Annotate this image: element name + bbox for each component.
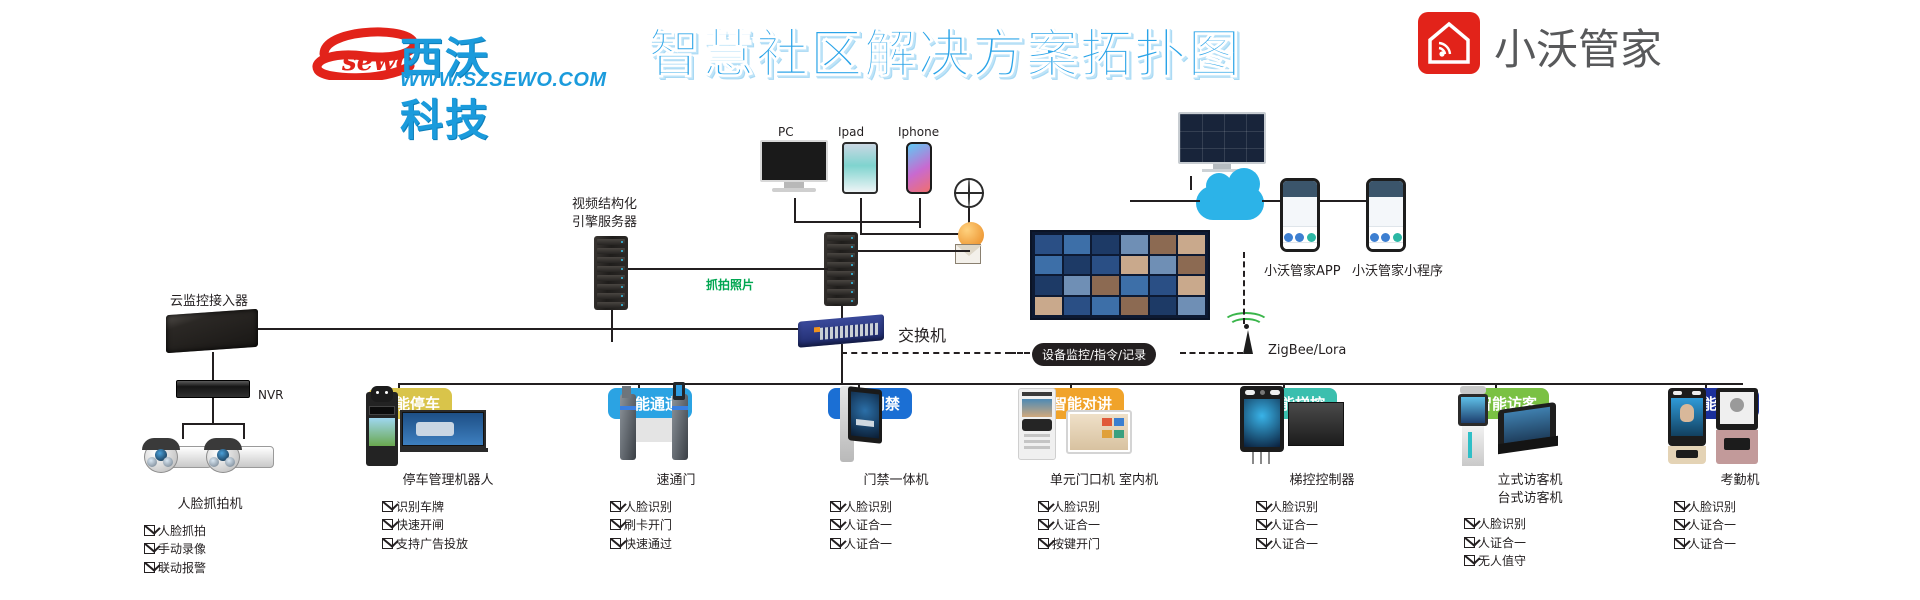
video-engine-server-label-line2: 引擎服务器 [572, 211, 637, 230]
link-cam1 [182, 423, 184, 439]
switch-label: 交换机 [898, 322, 946, 346]
cloud-icon [1196, 186, 1264, 220]
dash-left-seg [1010, 352, 1030, 354]
company-logo: sewo 西沃科技 WWW.SZSEWO.COM [288, 14, 528, 84]
column-smart-intercom: 单元门口机 室内机 人脸识别 人证合一 按键开门 [1004, 380, 1204, 553]
feature-item: 人证合一 [1674, 516, 1840, 535]
column-smart-access: 门禁一体机 人脸识别 人证合一 人证合一 [796, 380, 996, 553]
feature-item: 人脸识别 [830, 498, 996, 517]
feature-item: 人脸识别 [610, 498, 776, 517]
camera-feature-list: 人脸抓拍 手动录像 联动报警 [110, 522, 310, 578]
house-wifi-icon [1418, 12, 1480, 74]
capture-photo-label: 抓拍照片 [706, 276, 754, 293]
rack-server-icon [166, 309, 258, 353]
feature-item: 快速通过 [610, 535, 776, 554]
link-cloudaccess-switch [258, 328, 824, 330]
column-smart-elevator: 梯控控制器 人脸识别 人证合一 人证合一 [1222, 380, 1422, 553]
feature-item: 人证合一 [1256, 535, 1422, 554]
feature-item: 人证合一 [1674, 535, 1840, 554]
dash-antenna-up [1243, 252, 1245, 324]
check-icon [382, 519, 393, 530]
device-name-smart-parking: 停车管理机器人 [348, 472, 548, 490]
topology-diagram-page: sewo 西沃科技 WWW.SZSEWO.COM 智慧社区解决方案拓扑图 小沃管… [0, 0, 1920, 600]
link-switch-down [841, 344, 843, 384]
link-workstation-cloud [1190, 176, 1192, 190]
video-wall-icon [1030, 230, 1210, 320]
feature-item: 手动录像 [144, 540, 310, 559]
link-wall-cloud [1130, 200, 1200, 202]
link-ipad-down [860, 198, 862, 234]
access-terminal-icon [796, 380, 996, 466]
feature-item: 人证合一 [1464, 534, 1630, 553]
check-icon [1256, 519, 1267, 530]
check-icon [144, 543, 155, 554]
column-smart-passage: 速通门 人脸识别 刷卡开门 快速通过 [576, 380, 776, 553]
feature-item: 人证合一 [1038, 516, 1204, 535]
check-icon [1256, 501, 1267, 512]
check-icon [1464, 537, 1475, 548]
device-name-smart-visitor-line2: 台式访客机 [1430, 490, 1630, 508]
check-icon [1038, 501, 1049, 512]
phone-app-icon-1 [1280, 178, 1320, 252]
camera-device-name: 人脸抓拍机 [110, 496, 310, 514]
camera-branch-column: 人脸抓拍机 人脸抓拍 手动录像 联动报警 [110, 490, 310, 577]
network-switch-icon [798, 314, 884, 348]
bullet-camera-icon [142, 438, 212, 478]
check-icon [1038, 538, 1049, 549]
feature-list-smart-elevator: 人脸识别 人证合一 人证合一 [1222, 498, 1422, 554]
device-name-smart-passage: 速通门 [576, 472, 776, 490]
link-nvr-down [212, 398, 214, 424]
pc-label: PC [778, 125, 794, 139]
smartphone-icon [906, 142, 932, 194]
check-icon [1674, 538, 1685, 549]
check-icon [1674, 519, 1685, 530]
feature-item: 联动报警 [144, 559, 310, 578]
check-icon [610, 501, 621, 512]
feature-item: 人脸识别 [1038, 498, 1204, 517]
check-icon [144, 525, 155, 536]
tablet-icon [842, 142, 878, 194]
xiaowo-logo-text: 小沃管家 [1494, 16, 1662, 77]
device-name-smart-access: 门禁一体机 [796, 472, 996, 490]
feature-item: 识别车牌 [382, 498, 548, 517]
feature-list-smart-access: 人脸识别 人证合一 人证合一 [796, 498, 996, 554]
xiaowo-logo: 小沃管家 [1418, 12, 1718, 78]
column-smart-visitor: 立式访客机 台式访客机 人脸识别 人证合一 无人值守 [1430, 380, 1630, 571]
feature-item: 支持广告投放 [382, 535, 548, 554]
phone-app-icon-2 [1366, 178, 1406, 252]
ipad-label: Ipad [838, 125, 864, 139]
device-name-smart-elevator: 梯控控制器 [1222, 472, 1422, 490]
app-label: 小沃管家APP [1264, 260, 1341, 279]
check-icon [382, 538, 393, 549]
bullet-camera-icon-2 [204, 438, 274, 478]
page-header: sewo 西沃科技 WWW.SZSEWO.COM 智慧社区解决方案拓扑图 小沃管… [0, 0, 1920, 92]
link-cameras-bus [182, 423, 244, 425]
dash-switch-seg [841, 352, 1011, 354]
device-name-smart-intercom: 单元门口机 室内机 [1004, 472, 1204, 490]
elevator-controller-icon [1222, 380, 1422, 466]
cloud-access-label: 云监控接入器 [170, 290, 248, 309]
iphone-label: Iphone [898, 125, 939, 139]
check-icon [382, 501, 393, 512]
feature-list-smart-passage: 人脸识别 刷卡开门 快速通过 [576, 498, 776, 554]
link-servers [628, 268, 828, 270]
intercom-icon [1004, 380, 1204, 466]
feature-list-smart-visitor: 人脸识别 人证合一 无人值守 [1430, 515, 1630, 571]
column-smart-parking: 停车管理机器人 识别车牌 快速开闸 支持广告投放 [348, 380, 548, 553]
feature-item: 无人值守 [1464, 552, 1630, 571]
signal-wave-2 [1222, 312, 1270, 336]
feature-list-smart-intercom: 人脸识别 人证合一 按键开门 [1004, 498, 1204, 554]
visitor-kiosk-icon [1430, 380, 1630, 466]
desktop-monitor-icon [760, 140, 828, 194]
feature-item: 人证合一 [830, 535, 996, 554]
feature-item: 快速开闸 [382, 516, 548, 535]
speed-gate-icon [576, 380, 776, 466]
brand-website: WWW.SZSEWO.COM [400, 69, 607, 92]
page-title: 智慧社区解决方案拓扑图 [648, 12, 1242, 87]
feature-item: 人证合一 [830, 516, 996, 535]
link-server1-down [611, 310, 613, 342]
device-name-smart-attendance: 考勤机 [1640, 472, 1840, 490]
check-icon [610, 519, 621, 530]
device-name-smart-visitor-line1: 立式访客机 [1430, 472, 1630, 490]
check-icon [830, 519, 841, 530]
feature-item: 按键开门 [1038, 535, 1204, 554]
envelope-icon [955, 244, 981, 264]
check-icon [1464, 518, 1475, 529]
monitor-keyboard-icon [1178, 112, 1266, 174]
check-icon [144, 562, 155, 573]
link-pc-down [794, 198, 796, 222]
miniprogram-label: 小沃管家小程序 [1352, 260, 1443, 279]
server-rack-icon-2 [824, 232, 858, 306]
zigbee-lora-label: ZigBee/Lora [1268, 343, 1346, 358]
check-icon [1256, 538, 1267, 549]
feature-list-smart-attendance: 人脸识别 人证合一 人证合一 [1640, 498, 1840, 554]
check-icon [1464, 555, 1475, 566]
attendance-terminal-icon [1640, 380, 1840, 466]
feature-item: 人脸识别 [1464, 515, 1630, 534]
check-icon [830, 501, 841, 512]
link-cam2 [243, 423, 245, 439]
device-monitor-badge: 设备监控/指令/记录 [1032, 343, 1156, 366]
check-icon [1674, 501, 1685, 512]
check-icon [1038, 519, 1049, 530]
video-engine-server-label-line1: 视频结构化 [572, 193, 637, 212]
link-clients-to-internet [860, 233, 970, 235]
parking-robot-icon [348, 380, 548, 466]
nvr-icon [176, 380, 250, 398]
link-cloud-nvr [212, 352, 214, 380]
feature-item: 刷卡开门 [610, 516, 776, 535]
link-server2-internet [858, 250, 970, 252]
nvr-label: NVR [258, 388, 284, 402]
link-iphone-down [919, 198, 921, 228]
feature-list-smart-parking: 识别车牌 快速开闸 支持广告投放 [348, 498, 548, 554]
check-icon [830, 538, 841, 549]
check-icon [610, 538, 621, 549]
link-clients-bus [794, 221, 920, 223]
column-smart-attendance: 考勤机 人脸识别 人证合一 人证合一 [1640, 380, 1840, 553]
globe-icon [954, 178, 984, 208]
server-rack-icon [594, 236, 628, 310]
feature-item: 人证合一 [1256, 516, 1422, 535]
feature-item: 人脸识别 [1256, 498, 1422, 517]
feature-item: 人脸抓拍 [144, 522, 310, 541]
feature-item: 人脸识别 [1674, 498, 1840, 517]
